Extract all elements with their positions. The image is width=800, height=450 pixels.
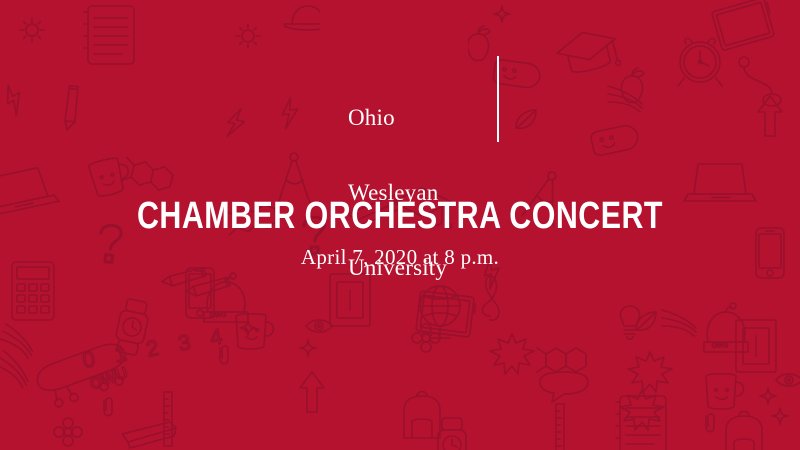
- event-title: CHAMBER ORCHESTRA CONCERT: [80, 196, 720, 236]
- svg-text:0 1 2 3 4: 0 1 2 3 4: [81, 322, 232, 372]
- event-text-block: CHAMBER ORCHESTRA CONCERT April 7, 2020 …: [0, 196, 800, 270]
- logo-wordmark: Ohio Wesleyan University: [348, 55, 447, 330]
- svg-text:owu: owu: [209, 308, 226, 320]
- university-logo: Ohio Wesleyan University: [348, 55, 499, 330]
- svg-text:owu: owu: [711, 339, 728, 350]
- presentation-slide: 0 1 2 3 4 OWU owu owu: [0, 0, 800, 450]
- event-date: April 7, 2020 at 8 p.m.: [0, 244, 800, 270]
- logo-line-ohio: Ohio: [348, 105, 447, 130]
- logo-divider-rule: [497, 56, 499, 142]
